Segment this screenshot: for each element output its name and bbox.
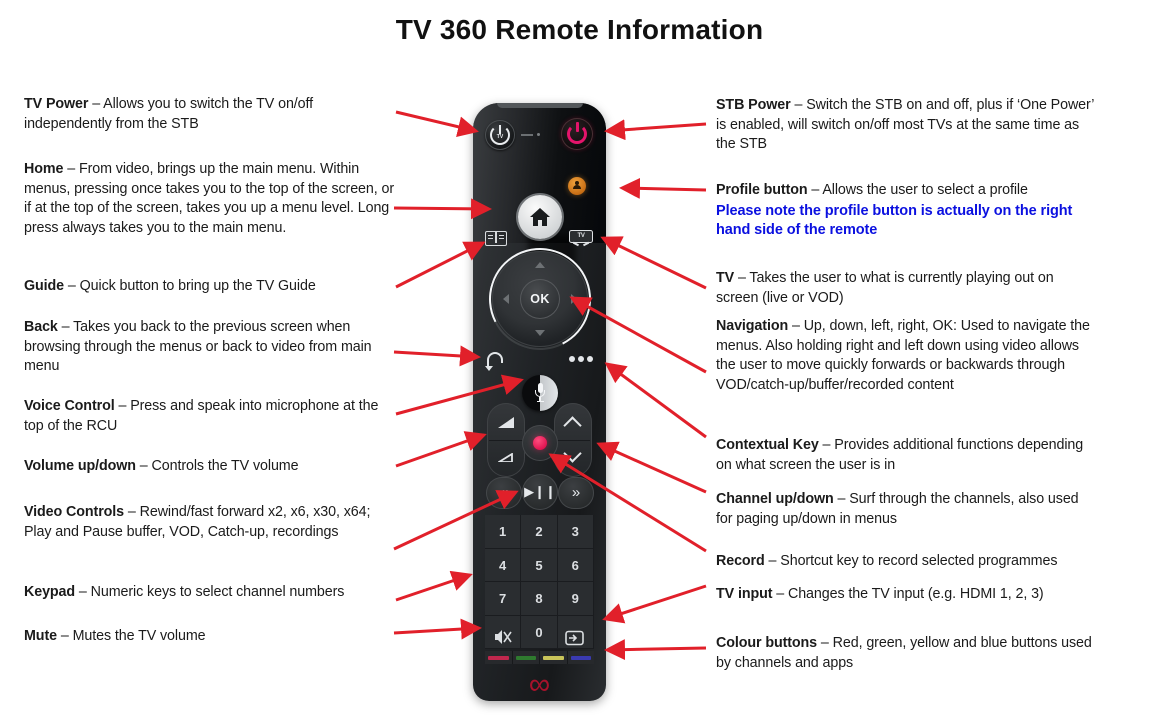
arrow-colour-buttons [607,648,706,650]
note-colour-buttons: Colour buttons – Red, green, yellow and … [716,634,1094,673]
arrow-stb-power [607,124,706,131]
power-icon-stem [499,125,501,134]
key-7[interactable]: 7 [485,582,521,616]
dpad-right-icon[interactable] [571,294,577,304]
note-text: Takes you back to the previous screen wh… [24,319,372,374]
note-dash: – [64,278,80,294]
note-term: Keypad [24,584,75,600]
chevron-up-icon[interactable] [563,416,581,434]
back-button[interactable] [487,352,507,370]
key-8[interactable]: 8 [521,582,557,616]
ellipsis-icon-dot [569,356,575,362]
dpad-left-icon[interactable] [503,294,509,304]
note-text: Takes the user to what is currently play… [716,270,1054,306]
profile-button[interactable] [568,177,586,195]
guide-button[interactable] [485,231,507,246]
note-stb-power: STB Power – Switch the STB on and off, p… [716,96,1094,155]
note-tv: TV – Takes the user to what is currently… [716,269,1094,308]
note-back: Back – Takes you back to the previous sc… [24,318,396,377]
note-term: Guide [24,278,64,294]
note-dash: – [136,458,152,474]
arrow-keypad [396,575,470,600]
note-dash: – [817,635,833,651]
arrow-tv-input [605,586,706,619]
arrow-tv [603,238,706,288]
record-dot-icon [533,436,547,450]
colour-buttons-row [485,651,594,664]
tv-power-label: TV [494,134,506,141]
volume-up-icon[interactable] [498,417,514,428]
navigation-dpad[interactable]: OK [492,251,588,347]
dpad-down-icon[interactable] [535,330,545,336]
colour-button-blue[interactable] [568,651,595,664]
key-1[interactable]: 1 [485,515,521,549]
colour-button-red[interactable] [485,651,513,664]
note-home: Home – From video, brings up the main me… [24,160,396,239]
note-dash: – [57,628,73,644]
note-profile-button: Profile button – Allows the user to sele… [716,181,1094,201]
brand-logo: ∞ [473,669,606,701]
colour-button-green[interactable] [513,651,541,664]
key-6[interactable]: 6 [558,549,594,583]
note-dash: – [75,584,91,600]
note-term: Navigation [716,318,792,334]
rocker-divider [489,440,523,441]
status-led-dash [521,134,533,136]
microphone-icon [535,383,545,403]
note-tv-input: TV input – Changes the TV input (e.g. HD… [716,585,1106,605]
microphone-icon-base [537,401,544,403]
back-arrow-icon-head [485,366,493,371]
note-voice-control: Voice Control – Press and speak into mic… [24,397,396,436]
note-term: Home [24,161,63,177]
back-arrow-icon [487,352,503,363]
key-2[interactable]: 2 [521,515,557,549]
note-profile-placement: Please note the profile button is actual… [716,202,1076,240]
key-3[interactable]: 3 [558,515,594,549]
arrow-contextual [607,364,706,437]
note-mute: Mute – Mutes the TV volume [24,627,396,647]
guide-icon-line [488,235,493,236]
colour-button-yellow[interactable] [540,651,568,664]
note-dash: – [808,182,823,198]
infinity-icon: ∞ [529,669,550,701]
note-term: STB Power [716,97,791,113]
arrow-profile [622,188,706,190]
note-dash: – [792,318,804,334]
arrow-volume [396,435,484,466]
note-term: TV Power [24,96,88,112]
fast-forward-button[interactable]: » [558,477,594,509]
rewind-button[interactable]: « [486,477,522,509]
arrow-mute [394,628,479,633]
note-dash: – [791,97,807,113]
key-0[interactable]: 0 [521,616,557,650]
slide-canvas: TV 360 Remote Information TV Power – All… [0,0,1159,720]
note-guide: Guide – Quick button to bring up the TV … [24,277,396,297]
note-term: Mute [24,628,57,644]
note-term: Record [716,553,765,569]
note-dash: – [765,553,781,569]
play-pause-button[interactable]: ▶❙❙ [522,474,558,510]
note-term: Video Controls [24,504,124,520]
tv-button[interactable]: TV [569,230,593,248]
volume-rocker[interactable] [487,403,525,477]
note-text: Mutes the TV volume [73,628,206,644]
note-term: Volume up/down [24,458,136,474]
microphone-icon-arc [535,390,545,397]
colour-strip-red [488,656,509,660]
mute-icon [493,628,513,646]
ok-button[interactable]: OK [520,279,560,319]
home-button[interactable] [518,195,562,239]
tv-input-button[interactable] [558,616,594,650]
record-button[interactable] [522,425,558,461]
note-term: Profile button [716,182,808,198]
dpad-up-icon[interactable] [535,262,545,268]
note-dash: – [115,398,131,414]
chevron-down-icon[interactable] [563,444,581,462]
note-record: Record – Shortcut key to record selected… [716,552,1106,572]
home-icon [529,207,551,227]
ellipsis-icon-dot [578,356,584,362]
guide-icon-line [499,238,504,239]
note-text: Shortcut key to record selected programm… [780,553,1057,569]
note-text: From video, brings up the main menu. Wit… [24,161,394,236]
stb-power-button[interactable] [561,118,593,150]
note-text: Allows the user to select a profile [822,182,1028,198]
person-icon-head [575,181,579,185]
note-term: Contextual Key [716,437,819,453]
key-9[interactable]: 9 [558,582,594,616]
remote-top-notch [497,103,583,108]
note-term: Back [24,319,58,335]
note-dash: – [834,491,850,507]
note-channel: Channel up/down – Surf through the chann… [716,490,1094,529]
note-dash: – [772,586,788,602]
power-icon-stem [576,122,579,132]
mute-button[interactable] [485,616,521,650]
arrow-channel [599,444,706,492]
note-term: Voice Control [24,398,115,414]
note-video-controls: Video Controls – Rewind/fast forward x2,… [24,503,396,542]
colour-strip-yellow [543,656,564,660]
guide-icon [485,231,507,246]
guide-icon-divider [495,232,497,243]
note-text: Controls the TV volume [152,458,299,474]
colour-strip-green [516,656,537,660]
tv360-remote-control: TV [473,103,606,701]
note-dash: – [124,504,140,520]
key-4[interactable]: 4 [485,549,521,583]
note-dash: – [88,96,103,112]
guide-icon-line [488,238,493,239]
guide-icon-line [499,235,504,236]
tv-input-icon [565,630,585,646]
page-title: TV 360 Remote Information [0,14,1159,46]
note-contextual-key: Contextual Key – Provides additional fun… [716,436,1094,475]
note-text: Changes the TV input (e.g. HDMI 1, 2, 3) [788,586,1044,602]
note-dash: – [734,270,749,286]
note-term: Colour buttons [716,635,817,651]
arrow-tv-power [396,112,476,131]
rocker-divider [556,440,590,441]
note-text: Numeric keys to select channel numbers [91,584,345,600]
channel-rocker[interactable] [554,403,592,477]
arrow-back [394,352,478,357]
note-volume: Volume up/down – Controls the TV volume [24,457,396,477]
person-icon-body [573,185,581,189]
note-keypad: Keypad – Numeric keys to select channel … [24,583,396,603]
note-term: TV [716,270,734,286]
contextual-key-button[interactable] [569,356,593,364]
status-led-dot [537,133,540,136]
note-dash: – [58,319,73,335]
note-dash: – [819,437,835,453]
note-term: TV input [716,586,772,602]
note-navigation: Navigation – Up, down, left, right, OK: … [716,317,1094,396]
note-term: Channel up/down [716,491,834,507]
note-dash: – [63,161,79,177]
voice-control-button[interactable] [522,375,558,411]
tv-power-button[interactable]: TV [485,120,515,150]
person-icon [573,181,581,189]
note-tv-power: TV Power – Allows you to switch the TV o… [24,95,396,134]
note-text: Quick button to bring up the TV Guide [80,278,316,294]
arrow-guide [396,243,483,287]
numeric-keypad: 1 2 3 4 5 6 7 8 9 0 [485,515,594,649]
volume-down-icon[interactable] [498,453,514,462]
colour-strip-blue [571,656,592,660]
ellipsis-icon-dot [587,356,593,362]
key-5[interactable]: 5 [521,549,557,583]
